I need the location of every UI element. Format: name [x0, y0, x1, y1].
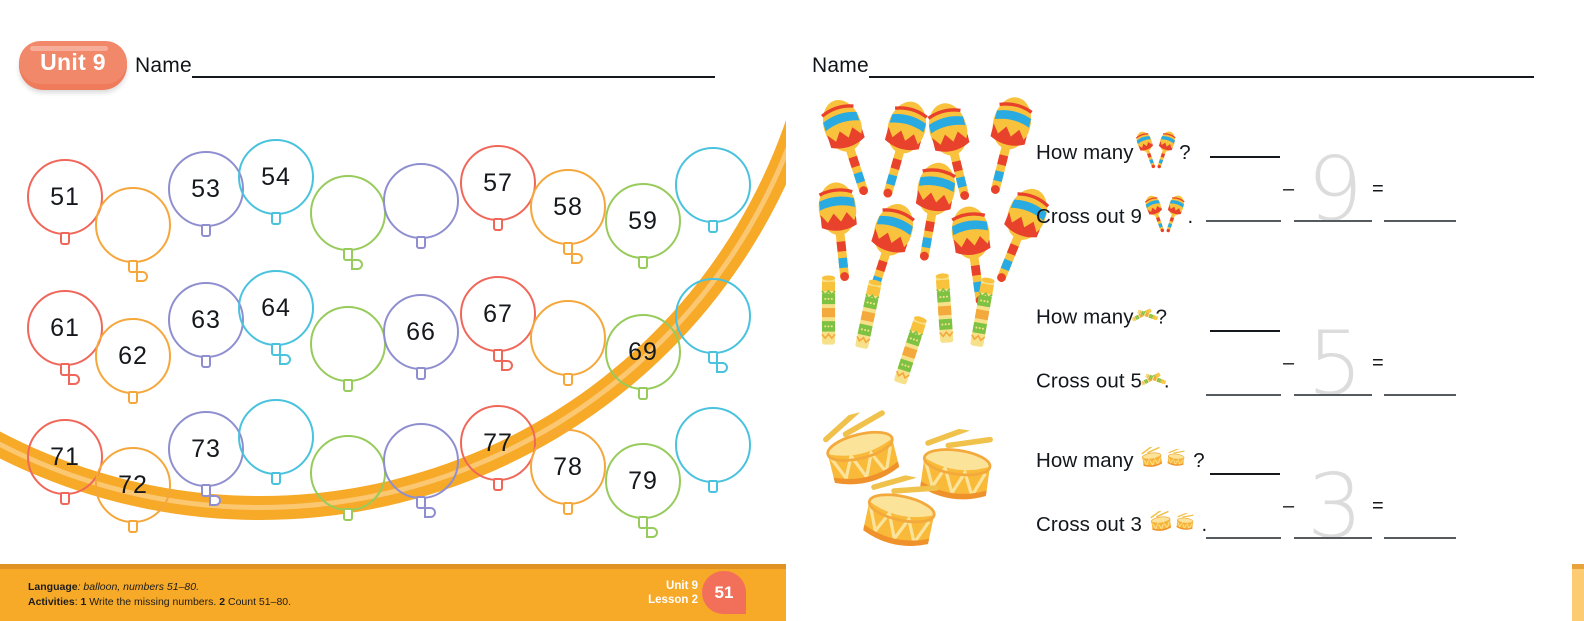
rain-stick-illustration	[974, 276, 991, 353]
how-many-question: How many ?	[1036, 304, 1167, 332]
balloon-blank[interactable]	[675, 407, 751, 509]
balloon-ribbon	[646, 527, 658, 538]
how-many-label: How many	[1036, 141, 1134, 164]
balloon-number: 73	[168, 411, 244, 487]
rain-stick-illustration	[860, 278, 877, 355]
cross-out-label: Cross out	[1036, 513, 1125, 536]
equals-sign: =	[1372, 352, 1384, 375]
name-input-line-left[interactable]	[192, 76, 715, 78]
balloon-number: 51	[27, 159, 103, 235]
right-page: Name How many ?Cross out 9 .9–=How many …	[786, 0, 1584, 621]
balloon-filled: 79	[605, 443, 681, 545]
balloon-knot	[343, 508, 353, 521]
balloon-blank[interactable]	[310, 435, 386, 537]
balloon-ribbon	[279, 354, 291, 365]
balloon-blank[interactable]	[310, 175, 386, 277]
balloon-circle	[675, 147, 751, 223]
answer-blank-result[interactable]	[1384, 220, 1456, 222]
balloon-circle	[95, 187, 171, 263]
balloon-filled: 54	[238, 139, 314, 241]
cross-out-label: Cross out	[1036, 205, 1125, 228]
balloon-knot	[563, 373, 573, 386]
equals-sign: =	[1372, 495, 1384, 518]
balloon-filled: 62	[95, 318, 171, 420]
exercise-row: How many ?Cross out 5 .5–=	[786, 262, 1584, 422]
balloon-number: 72	[95, 447, 171, 523]
left-page: Unit 9 Name 5153545758596162636466676971…	[0, 0, 786, 621]
balloon-circle	[383, 163, 459, 239]
question-mark: ?	[1187, 449, 1204, 472]
balloon-filled: 69	[605, 314, 681, 416]
balloon-blank[interactable]	[675, 278, 751, 380]
balloon-filled: 73	[168, 411, 244, 513]
balloon-circle	[383, 423, 459, 499]
balloon-number: 57	[460, 145, 536, 221]
balloon-ribbon	[209, 495, 221, 506]
activity-2-text-left: Count 51–80.	[228, 596, 291, 608]
minus-sign: –	[1283, 495, 1294, 518]
balloon-blank[interactable]	[383, 163, 459, 265]
balloon-circle	[675, 278, 751, 354]
name-label-right: Name	[812, 54, 869, 78]
answer-blank-count[interactable]	[1210, 156, 1280, 158]
balloon-number: 63	[168, 282, 244, 358]
balloon-ribbon	[136, 271, 148, 282]
exercise-row: How many ?Cross out 3 .3–=	[786, 405, 1584, 565]
balloon-filled: 78	[530, 429, 606, 531]
answer-blank-total[interactable]	[1206, 394, 1281, 396]
drum-icon	[1165, 449, 1187, 475]
balloon-ribbon	[351, 259, 363, 270]
balloon-number: 59	[605, 183, 681, 259]
balloon-number: 64	[238, 270, 314, 346]
balloon-number: 79	[605, 443, 681, 519]
balloon-blank[interactable]	[530, 300, 606, 402]
balloon-filled: 64	[238, 270, 314, 372]
page-indicator-left: Unit 9 Lesson 2 51	[648, 564, 746, 621]
balloon-ribbon	[571, 253, 583, 264]
balloon-number: 53	[168, 151, 244, 227]
balloon-number: 61	[27, 290, 103, 366]
balloon-filled: 63	[168, 282, 244, 384]
period: .	[1196, 513, 1208, 536]
balloon-number: 67	[460, 276, 536, 352]
balloon-filled: 51	[27, 159, 103, 261]
rain-stick-illustration	[902, 314, 919, 391]
how-many-question: How many ?	[1036, 130, 1191, 177]
maraca-icon	[1156, 130, 1173, 177]
maraca-icon	[1165, 194, 1182, 241]
cross-out-instruction: Cross out 3 .	[1036, 511, 1207, 540]
drum-icon	[1139, 447, 1165, 476]
balloon-ribbon	[424, 507, 436, 518]
balloon-number: 71	[27, 419, 103, 495]
answer-blank-subtrahend[interactable]	[1294, 220, 1372, 222]
footer-right: Language: maraca, rain stick, drum, numb…	[1572, 564, 1584, 621]
unit-line-left: Unit 9	[648, 579, 698, 593]
name-input-line-right[interactable]	[869, 76, 1534, 78]
rain-stick-illustration	[820, 274, 837, 351]
how-many-label: How many	[1036, 305, 1134, 328]
balloon-ribbon	[68, 374, 80, 385]
balloon-blank[interactable]	[95, 187, 171, 289]
balloon-number: 58	[530, 169, 606, 245]
balloon-filled: 72	[95, 447, 171, 549]
exercise-row: How many ?Cross out 9 .9–=	[786, 88, 1584, 248]
balloon-filled: 67	[460, 276, 536, 378]
balloon-knot	[708, 220, 718, 233]
drum-icon	[1148, 511, 1174, 540]
balloon-blank[interactable]	[383, 423, 459, 525]
instrument-group-drum	[806, 405, 1056, 565]
balloon-circle	[530, 300, 606, 376]
balloon-filled: 58	[530, 169, 606, 271]
workbook-spread: Unit 9 Name 5153545758596162636466676971…	[0, 0, 1584, 621]
answer-blank-result[interactable]	[1384, 394, 1456, 396]
balloon-number: 69	[605, 314, 681, 390]
balloon-filled: 59	[605, 183, 681, 285]
activities-label-left: Activities	[28, 596, 75, 608]
balloon-circle	[310, 306, 386, 382]
drum-illustration	[854, 475, 946, 563]
rain-stick-illustration	[936, 272, 953, 349]
answer-blank-total[interactable]	[1206, 537, 1281, 539]
activity-1-text-left: Write the missing numbers.	[89, 596, 216, 608]
balloon-blank[interactable]	[238, 399, 314, 501]
balloon-blank[interactable]	[310, 306, 386, 408]
balloon-number: 77	[460, 405, 536, 481]
balloon-filled: 71	[27, 419, 103, 521]
answer-blank-count[interactable]	[1210, 473, 1280, 475]
balloon-filled: 57	[460, 145, 536, 247]
cross-out-instruction: Cross out 9 .	[1036, 194, 1193, 241]
balloon-ribbon	[501, 360, 513, 371]
balloon-filled: 61	[27, 290, 103, 392]
answer-blank-total[interactable]	[1206, 220, 1281, 222]
balloon-number: 66	[383, 294, 459, 370]
minus-sign: –	[1283, 352, 1294, 375]
unit-badge: Unit 9	[19, 41, 127, 90]
language-label-left: Language	[28, 581, 78, 593]
balloon-number: 54	[238, 139, 314, 215]
instrument-group-rain-stick	[806, 262, 1056, 422]
maraca-icon	[1148, 194, 1165, 241]
balloon-knot	[271, 472, 281, 485]
balloon-knot	[708, 480, 718, 493]
balloon-circle	[238, 399, 314, 475]
footer-text-left: Language: balloon, numbers 51–80. Activi…	[28, 580, 291, 610]
balloon-ribbon	[716, 362, 728, 373]
balloon-knot	[343, 379, 353, 392]
balloon-circle	[675, 407, 751, 483]
answer-blank-count[interactable]	[1210, 330, 1280, 332]
unit-badge-label: Unit 9	[19, 41, 127, 84]
cross-out-number: 9	[1130, 205, 1142, 228]
cross-out-instruction: Cross out 5 .	[1036, 368, 1170, 396]
answer-blank-subtrahend[interactable]	[1294, 394, 1372, 396]
balloon-circle	[310, 435, 386, 511]
cross-out-number: 3	[1130, 513, 1142, 536]
lesson-line-left: Lesson 2	[648, 593, 698, 607]
balloon-number: 78	[530, 429, 606, 505]
cross-out-label: Cross out	[1036, 369, 1125, 392]
how-many-label: How many	[1036, 449, 1134, 472]
balloon-knot	[416, 236, 426, 249]
unit-lesson-label-left: Unit 9 Lesson 2	[648, 579, 698, 607]
minus-sign: –	[1283, 178, 1294, 201]
answer-blank-result[interactable]	[1384, 537, 1456, 539]
answer-blank-subtrahend[interactable]	[1294, 537, 1372, 539]
balloon-filled: 66	[383, 294, 459, 396]
how-many-question: How many ?	[1036, 447, 1205, 476]
instrument-group-maraca	[806, 88, 1056, 248]
question-mark: ?	[1173, 141, 1190, 164]
balloon-number: 62	[95, 318, 171, 394]
name-label-left: Name	[135, 54, 192, 78]
balloon-blank[interactable]	[675, 147, 751, 249]
balloon-circle	[310, 175, 386, 251]
language-text-left: : balloon, numbers 51–80.	[78, 581, 199, 593]
equals-sign: =	[1372, 178, 1384, 201]
balloon-filled: 77	[460, 405, 536, 507]
balloon-filled: 53	[168, 151, 244, 253]
page-number-badge-left: 51	[702, 571, 746, 614]
footer-left: Language: balloon, numbers 51–80. Activi…	[0, 564, 786, 621]
drum-icon	[1174, 513, 1196, 539]
